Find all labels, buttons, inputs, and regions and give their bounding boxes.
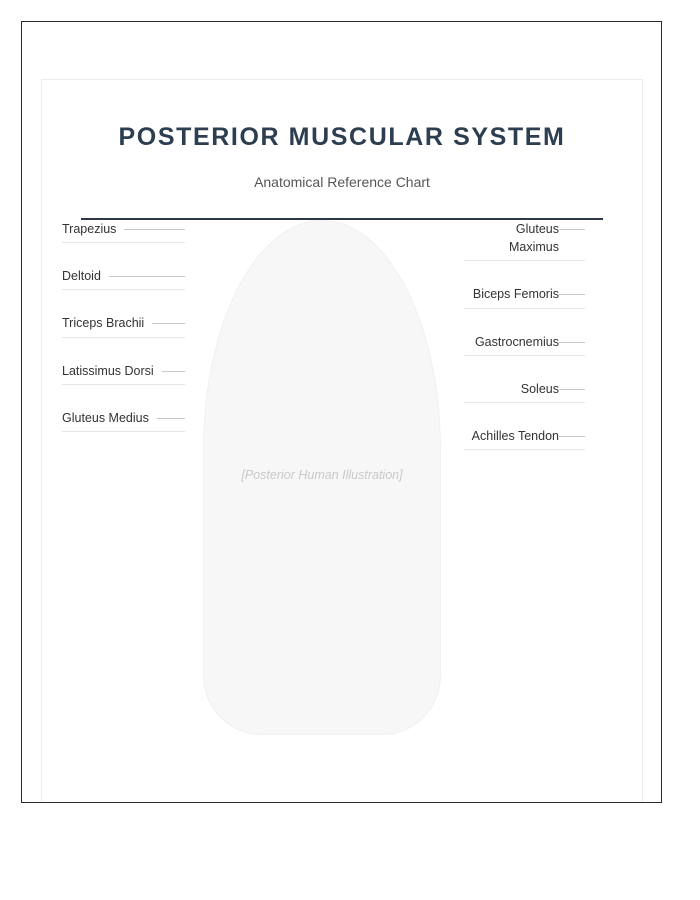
label-item-deltoid[interactable]: Deltoid — [62, 267, 185, 290]
muscle-label: Gastrocnemius — [475, 333, 559, 351]
muscle-label: Trapezius — [62, 220, 116, 238]
leader-line-icon — [559, 294, 585, 295]
leader-line-icon — [559, 342, 585, 343]
label-item-trapezius[interactable]: Trapezius — [62, 220, 185, 243]
leader-line-icon — [162, 371, 185, 372]
leader-line-icon — [559, 389, 585, 390]
muscle-label: Achilles Tendon — [472, 427, 559, 445]
leader-line-icon — [157, 418, 185, 419]
label-item-gastrocnemius[interactable]: Gastrocnemius — [464, 333, 585, 356]
muscle-label: Biceps Femoris — [473, 285, 559, 303]
muscle-label: Gluteus Medius — [62, 409, 149, 427]
human-body-silhouette-icon: [Posterior Human Illustration] — [203, 220, 441, 735]
label-item-triceps-brachii[interactable]: Triceps Brachii — [62, 314, 185, 337]
muscle-label: Deltoid — [62, 267, 101, 285]
label-item-latissimus-dorsi[interactable]: Latissimus Dorsi — [62, 362, 185, 385]
label-item-gluteus-maximus[interactable]: Gluteus Maximus — [464, 220, 585, 261]
page-title: POSTERIOR MUSCULAR SYSTEM — [42, 122, 642, 152]
illustration-placeholder: [Posterior Human Illustration] — [203, 220, 441, 735]
chart-body: Trapezius Deltoid Triceps Brachii Latiss… — [42, 220, 642, 803]
muscle-label: Gluteus Maximus — [464, 220, 559, 256]
label-item-achilles-tendon[interactable]: Achilles Tendon — [464, 427, 585, 450]
muscle-label: Latissimus Dorsi — [62, 362, 154, 380]
muscle-label: Triceps Brachii — [62, 314, 144, 332]
label-column-right: Gluteus Maximus Biceps Femoris Gastrocne… — [464, 220, 585, 474]
leader-line-icon — [152, 323, 185, 324]
leader-line-icon — [559, 436, 585, 437]
page-subtitle: Anatomical Reference Chart — [42, 152, 642, 191]
label-item-biceps-femoris[interactable]: Biceps Femoris — [464, 285, 585, 308]
illustration-caption: [Posterior Human Illustration] — [204, 467, 440, 483]
label-item-gluteus-medius[interactable]: Gluteus Medius — [62, 409, 185, 432]
chart-header: POSTERIOR MUSCULAR SYSTEM Anatomical Ref… — [42, 80, 642, 220]
leader-line-icon — [124, 229, 185, 230]
label-column-left: Trapezius Deltoid Triceps Brachii Latiss… — [62, 220, 185, 456]
leader-line-icon — [109, 276, 185, 277]
label-item-soleus[interactable]: Soleus — [464, 380, 585, 403]
anatomical-chart-card: POSTERIOR MUSCULAR SYSTEM Anatomical Ref… — [41, 79, 643, 803]
leader-line-icon — [559, 229, 585, 230]
document-outer-frame: POSTERIOR MUSCULAR SYSTEM Anatomical Ref… — [21, 21, 662, 803]
muscle-label: Soleus — [521, 380, 559, 398]
